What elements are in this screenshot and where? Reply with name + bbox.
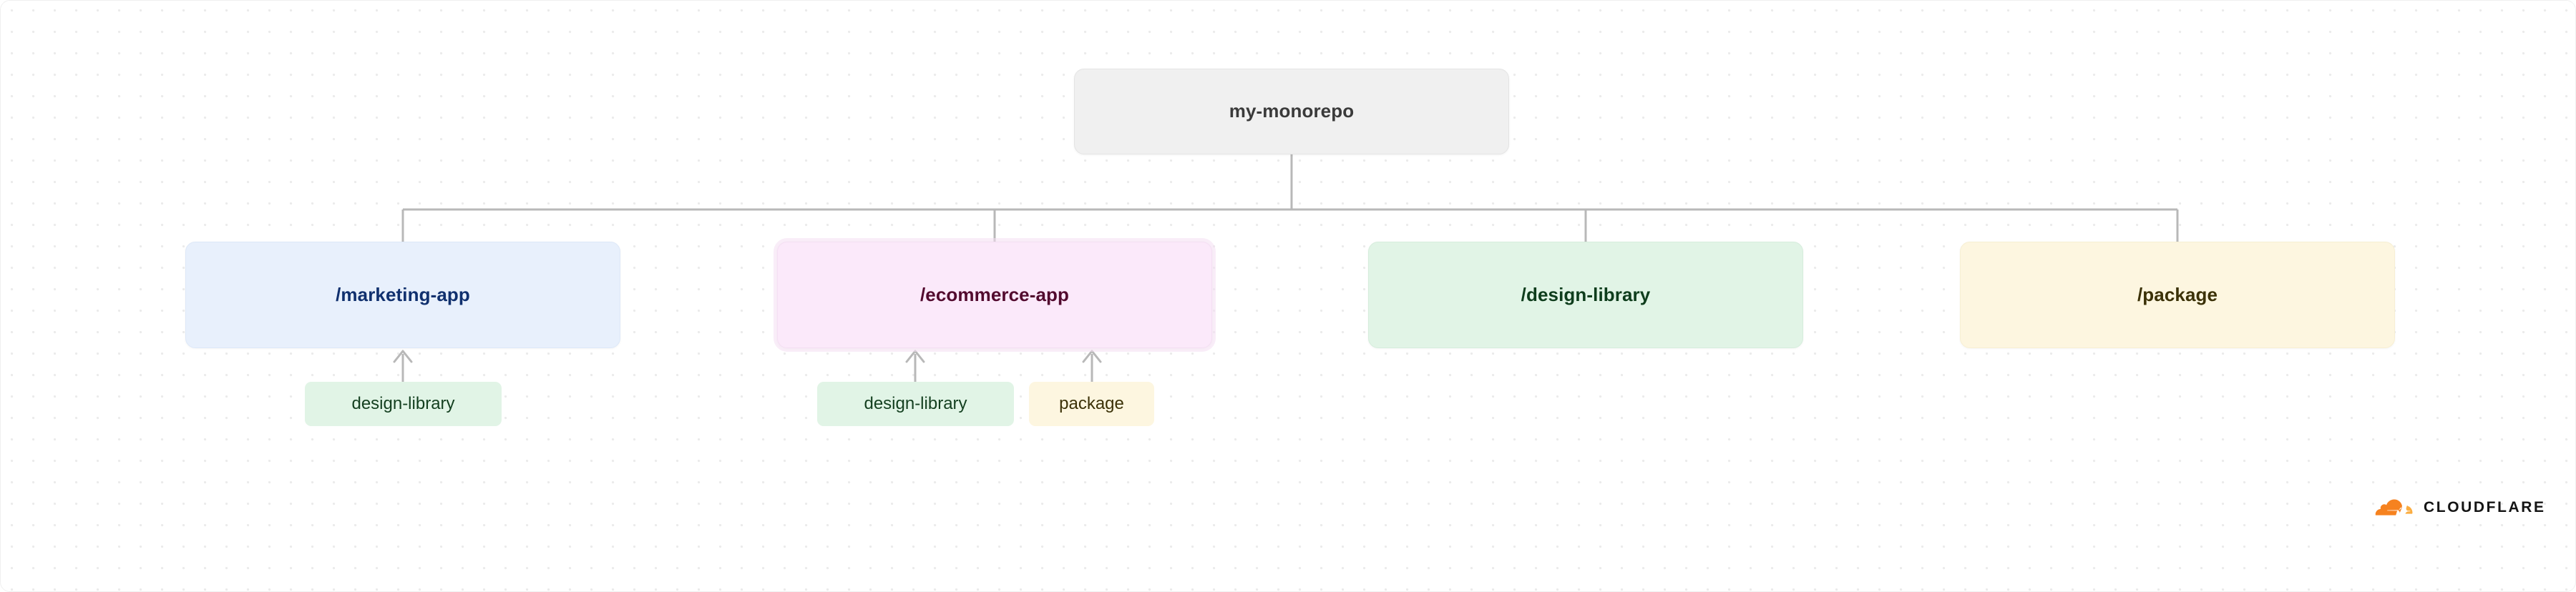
arrowhead-marketing-design-library (394, 351, 411, 362)
dependency-tag-marketing-design-library[interactable]: design-library (305, 382, 502, 426)
node-label: my-monorepo (1229, 100, 1354, 122)
node-label: /design-library (1521, 284, 1651, 306)
cloudflare-wordmark: CLOUDFLARE (2424, 500, 2546, 515)
dependency-tag-ecommerce-design-library[interactable]: design-library (817, 382, 1014, 426)
dependency-tag-label: design-library (351, 394, 454, 414)
dependency-tag-label: design-library (864, 394, 967, 414)
node-label: /marketing-app (336, 284, 470, 306)
arrowhead-ecommerce-design-library (907, 351, 924, 362)
node-marketing-app[interactable]: /marketing-app (185, 242, 620, 348)
node-package[interactable]: /package (1960, 242, 2395, 348)
node-ecommerce-app[interactable]: /ecommerce-app (777, 242, 1212, 348)
dependency-tag-ecommerce-package[interactable]: package (1029, 382, 1154, 426)
cloudflare-cloud-icon (2363, 495, 2415, 518)
flow-canvas[interactable]: my-monorepo /marketing-app /ecommerce-ap… (0, 0, 2576, 592)
node-label: /package (2137, 284, 2218, 306)
dependency-tag-label: package (1059, 394, 1124, 414)
cloudflare-logo: CLOUDFLARE (2363, 495, 2546, 518)
node-design-library[interactable]: /design-library (1368, 242, 1803, 348)
arrowhead-ecommerce-package (1083, 351, 1101, 362)
node-label: /ecommerce-app (920, 284, 1069, 306)
node-my-monorepo[interactable]: my-monorepo (1074, 69, 1509, 154)
